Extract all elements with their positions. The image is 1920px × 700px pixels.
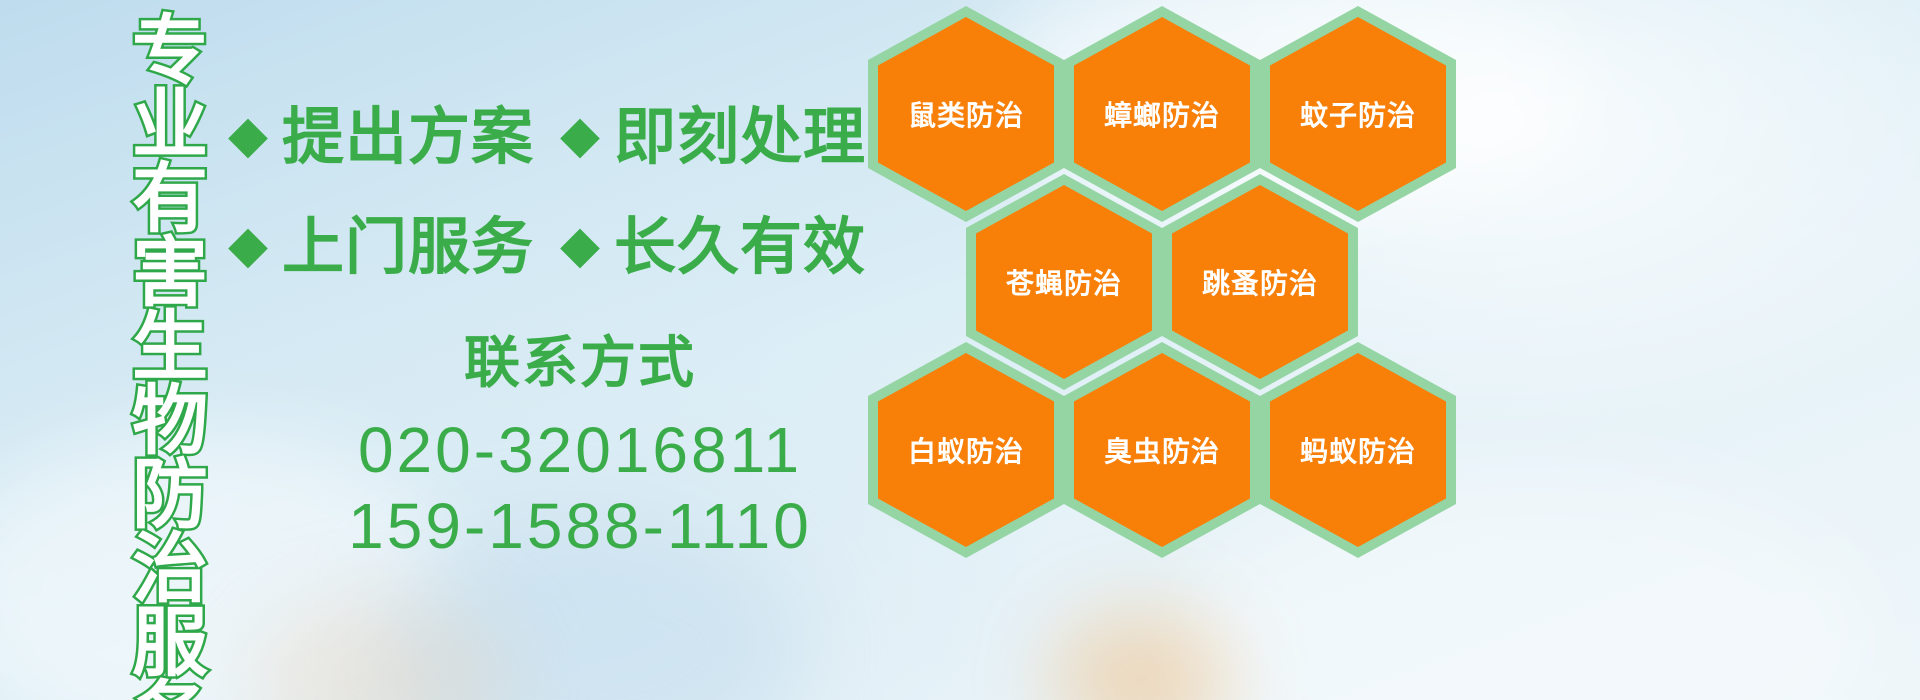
feature-item-immediate-action: ◆ 即刻处理 [560,106,866,168]
feature-item-propose-plan: ◆ 提出方案 [228,106,534,168]
diamond-bullet-icon: ◆ [560,109,600,161]
feature-label: 长久有效 [614,216,866,278]
diamond-bullet-icon: ◆ [560,219,600,271]
hex-cell-bedbug-control[interactable]: 臭虫防治 [1064,342,1260,558]
hex-inner: 鼠类防治 [878,17,1054,211]
feature-label: 提出方案 [282,106,534,168]
vertical-headline: 专业有害生物防治服务 [104,10,202,700]
hex-cell-ant-control[interactable]: 蚂蚁防治 [1260,342,1456,558]
feature-label: 即刻处理 [614,106,866,168]
feature-item-long-lasting-effect: ◆ 长久有效 [560,216,866,278]
hex-label: 白蚁防治 [908,430,1024,470]
diamond-bullet-icon: ◆ [228,219,268,271]
hex-inner: 臭虫防治 [1074,353,1250,547]
hex-inner: 蚂蚁防治 [1270,353,1446,547]
feature-list: ◆ 提出方案 ◆ 即刻处理 ◆ 上门服务 ◆ 长久有效 [228,82,868,302]
hex-label: 鼠类防治 [908,94,1024,134]
service-honeycomb: 鼠类防治 蟑螂防治 蚊子防治 苍蝇防治 跳蚤防治 白蚁防治 [860,0,1480,580]
feature-label: 上门服务 [282,216,534,278]
hex-cell-cockroach-control[interactable]: 蟑螂防治 [1064,6,1260,222]
hex-inner: 蟑螂防治 [1074,17,1250,211]
feature-row: ◆ 上门服务 ◆ 长久有效 [228,192,868,302]
hex-label: 臭虫防治 [1104,430,1220,470]
contact-block: 联系方式 020-32016811 159-1588-1110 [300,318,860,564]
background-blur-blob [1050,610,1230,700]
hex-inner: 白蚁防治 [878,353,1054,547]
hex-label: 蚊子防治 [1300,94,1416,134]
phone-number-landline[interactable]: 020-32016811 [300,413,860,489]
hex-cell-flea-control[interactable]: 跳蚤防治 [1162,174,1358,390]
hex-cell-fly-control[interactable]: 苍蝇防治 [966,174,1162,390]
hex-label: 苍蝇防治 [1006,262,1122,302]
hex-inner: 蚊子防治 [1270,17,1446,211]
hex-inner: 苍蝇防治 [976,185,1152,379]
hex-label: 蚂蚁防治 [1300,430,1416,470]
feature-item-door-to-door-service: ◆ 上门服务 [228,216,534,278]
contact-title: 联系方式 [300,318,860,399]
hex-label: 跳蚤防治 [1202,262,1318,302]
hex-cell-mosquito-control[interactable]: 蚊子防治 [1260,6,1456,222]
phone-number-mobile[interactable]: 159-1588-1110 [300,489,860,565]
background-blur-blob [250,600,510,700]
hex-inner: 跳蚤防治 [1172,185,1348,379]
diamond-bullet-icon: ◆ [228,109,268,161]
hex-cell-termite-control[interactable]: 白蚁防治 [868,342,1064,558]
promo-banner: 专业有害生物防治服务 ◆ 提出方案 ◆ 即刻处理 ◆ 上门服务 ◆ 长久有效 联… [0,0,1920,700]
hex-cell-rodent-control[interactable]: 鼠类防治 [868,6,1064,222]
feature-row: ◆ 提出方案 ◆ 即刻处理 [228,82,868,192]
hex-label: 蟑螂防治 [1104,94,1220,134]
